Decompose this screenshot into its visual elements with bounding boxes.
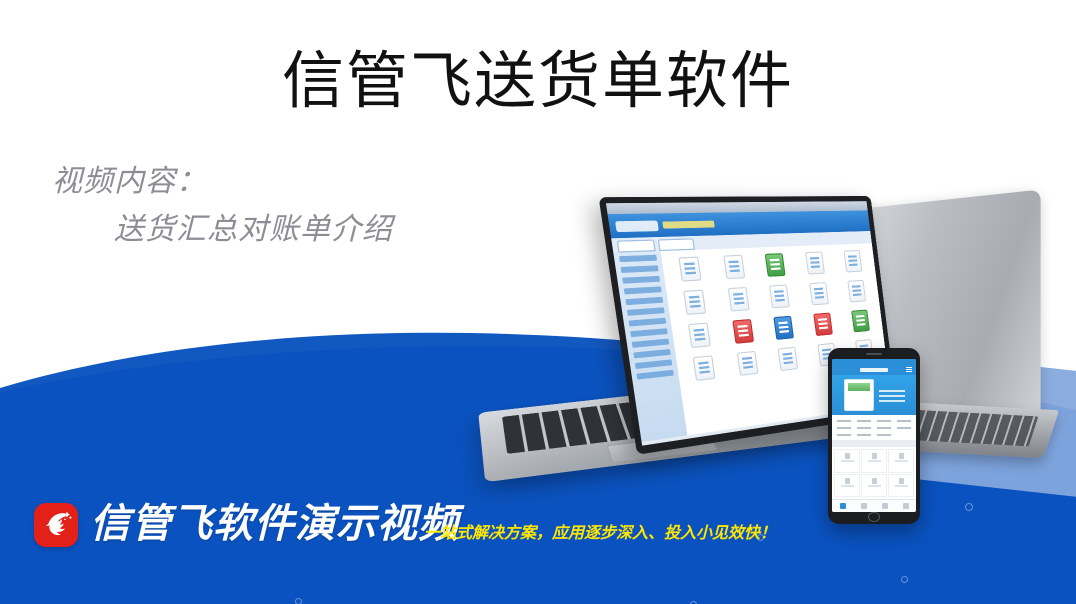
module-icon: [723, 255, 745, 279]
phone-stat-cell: [861, 474, 887, 498]
phone-grid-item: [895, 426, 914, 429]
sidebar-item: [632, 339, 670, 348]
phone-stat-cell: [834, 449, 860, 473]
module-icon: [770, 284, 791, 308]
phone-module-grid: [832, 415, 916, 440]
module-icon: [805, 251, 825, 274]
app-logo-icon: [615, 220, 659, 232]
phone-image: [828, 348, 920, 524]
phone-grid-item: [834, 433, 853, 436]
phone-section-header: [832, 440, 916, 447]
sidebar-item: [629, 318, 667, 327]
module-icon: [774, 316, 795, 340]
xinguanfei-logo-icon: [34, 503, 78, 547]
sidebar-item: [635, 359, 672, 369]
sidebar-item: [630, 328, 668, 337]
module-icon: [678, 257, 701, 282]
phone-stat-list: [832, 447, 916, 499]
module-icon: [778, 347, 799, 371]
module-icon: [844, 250, 863, 273]
module-icon: [727, 287, 749, 312]
banner-title: 信管飞软件演示视频: [90, 496, 459, 552]
sidebar-item: [633, 349, 670, 358]
phone-stat-cell: [888, 449, 914, 473]
banner-tagline: 一站式解决方案，应用逐步深入、投入小见效快！: [424, 523, 776, 545]
sidebar-item: [621, 265, 659, 273]
sidebar-item: [627, 307, 665, 316]
phone-grid-item: [895, 419, 914, 422]
phone-grid-item: [875, 419, 894, 422]
app-brand-text: [662, 221, 714, 229]
sidebar-item: [624, 286, 662, 294]
sidebar-item: [625, 297, 663, 305]
phone-nav-bar: [832, 364, 916, 375]
phone-grid-item: [875, 433, 894, 436]
module-icon: [693, 355, 716, 381]
banner-preview-card: [844, 379, 874, 411]
video-content-label: 视频内容：: [52, 158, 393, 206]
phone-grid-item: [895, 433, 914, 436]
phone-grid-item: [854, 426, 873, 429]
device-mockup-group: [450, 190, 1076, 520]
video-content-value: 送货汇总对账单介绍: [52, 206, 393, 254]
sidebar-item: [636, 370, 673, 380]
bottom-banner: 信管飞软件演示视频 一站式解决方案，应用逐步深入、投入小见效快！: [0, 500, 1076, 604]
module-icon: [688, 323, 711, 349]
module-icon: [765, 253, 786, 277]
sidebar-item: [622, 276, 660, 284]
module-icon: [814, 312, 834, 336]
phone-grid-item: [854, 419, 873, 422]
module-icon: [683, 290, 706, 315]
phone-grid-item: [875, 426, 894, 429]
hamburger-menu-icon: [906, 367, 912, 372]
phone-hero-banner: [832, 375, 916, 415]
presentation-slide: 信管飞送货单软件 视频内容： 送货汇总对账单介绍: [0, 0, 1076, 604]
module-icon: [851, 309, 870, 332]
phone-speaker: [866, 353, 882, 355]
banner-caption: [879, 388, 905, 402]
mobile-app-screenshot: [832, 359, 916, 512]
phone-grid-item: [834, 426, 853, 429]
phone-stat-cell: [861, 449, 887, 473]
page-title: 信管飞送货单软件: [0, 46, 1076, 118]
sidebar-item: [619, 255, 657, 262]
phone-grid-item: [834, 419, 853, 422]
video-content-block: 视频内容： 送货汇总对账单介绍: [52, 158, 393, 254]
phone-app-title: [860, 368, 888, 372]
phone-grid-item: [854, 433, 873, 436]
module-icon: [736, 351, 758, 376]
module-icon: [847, 280, 866, 303]
phone-stat-cell: [888, 474, 914, 498]
module-icon: [732, 319, 754, 344]
phone-stat-cell: [834, 474, 860, 498]
module-icon: [809, 282, 829, 305]
